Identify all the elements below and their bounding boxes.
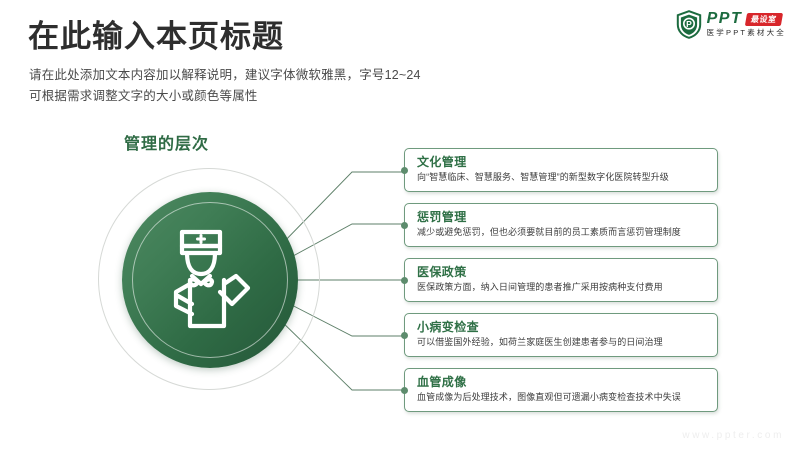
- site-watermark: www.ppter.com: [682, 430, 784, 441]
- svg-text:P: P: [686, 19, 692, 29]
- card-title: 文化管理: [417, 155, 707, 170]
- logo-wordmark: PPT: [707, 11, 743, 27]
- card-connector-dot: [401, 222, 408, 229]
- logo-text-block: PPT 最设室 医学PPT素材大全: [707, 11, 786, 37]
- logo-tagline: 医学PPT素材大全: [707, 28, 786, 37]
- brand-logo[interactable]: P PPT 最设室 医学PPT素材大全: [676, 8, 786, 40]
- info-card-1[interactable]: 惩罚管理 减少或避免惩罚，但也必须要就目前的员工素质而言惩罚管理制度: [404, 203, 718, 247]
- card-description: 减少或避免惩罚，但也必须要就目前的员工素质而言惩罚管理制度: [417, 226, 707, 239]
- card-title: 血管成像: [417, 375, 707, 390]
- page-title: 在此输入本页标题: [28, 18, 284, 56]
- info-card-4[interactable]: 血管成像 血管成像为后处理技术，图像直观但可遗漏小病变检查技术中失误: [404, 368, 718, 412]
- logo-top-row: PPT 最设室: [707, 11, 786, 27]
- shield-icon: P: [676, 10, 702, 39]
- hub-title: 管理的层次: [124, 130, 209, 154]
- card-description: 向“智慧临床、智慧服务、智慧管理”的新型数字化医院转型升级: [417, 171, 707, 184]
- logo-badge: 最设室: [745, 13, 783, 26]
- card-connector-dot: [401, 277, 408, 284]
- card-description: 血管成像为后处理技术，图像直观但可遗漏小病变检查技术中失误: [417, 391, 707, 404]
- card-connector-dot: [401, 387, 408, 394]
- card-title: 小病变检查: [417, 320, 707, 335]
- card-title: 惩罚管理: [417, 210, 707, 225]
- info-card-0[interactable]: 文化管理 向“智慧临床、智慧服务、智慧管理”的新型数字化医院转型升级: [404, 148, 718, 192]
- slide-header: 在此输入本页标题 请在此处添加文本内容加以解释说明，建议字体微软雅黑，字号12~…: [0, 0, 800, 110]
- info-card-3[interactable]: 小病变检查 可以借鉴国外经验，如荷兰家庭医生创建患者参与的日间治理: [404, 313, 718, 357]
- subtitle-line-2: 可根据需求调整文字的大小或颜色等属性: [29, 86, 421, 107]
- card-description: 可以借鉴国外经验，如荷兰家庭医生创建患者参与的日间治理: [417, 336, 707, 349]
- subtitle-line-1: 请在此处添加文本内容加以解释说明，建议字体微软雅黑，字号12~24: [29, 65, 421, 86]
- card-title: 医保政策: [417, 265, 707, 280]
- hub-circle[interactable]: [98, 168, 322, 392]
- info-card-2[interactable]: 医保政策 医保政策方面，纳入日间管理的患者推广采用按病种支付费用: [404, 258, 718, 302]
- subtitle-block: 请在此处添加文本内容加以解释说明，建议字体微软雅黑，字号12~24 可根据需求调…: [29, 65, 421, 107]
- card-connector-dot: [401, 332, 408, 339]
- card-connector-dot: [401, 167, 408, 174]
- nurse-icon: [162, 226, 260, 332]
- card-description: 医保政策方面，纳入日间管理的患者推广采用按病种支付费用: [417, 281, 707, 294]
